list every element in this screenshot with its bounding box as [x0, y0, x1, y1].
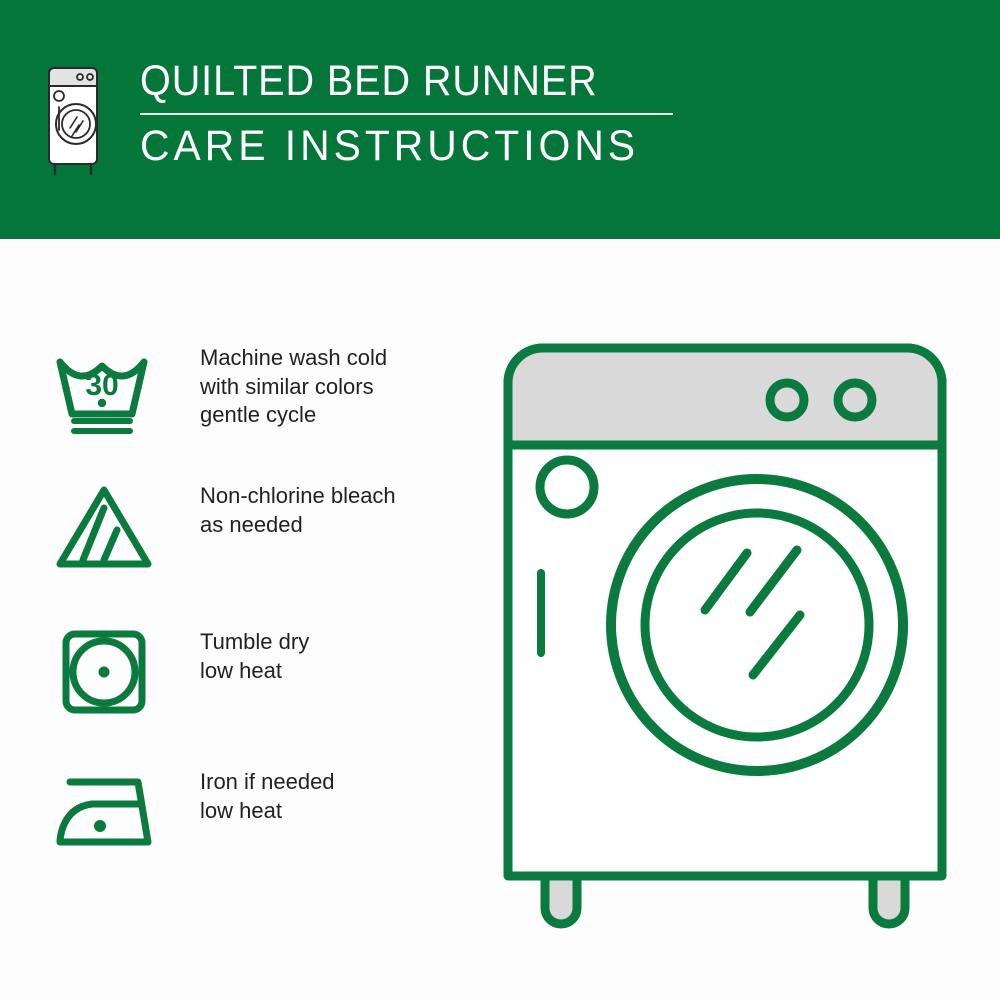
- wash-temperature-label: 30: [85, 369, 118, 402]
- title-divider: [140, 113, 673, 115]
- washing-machine-icon: [45, 62, 105, 180]
- large-washing-machine-illustration: [495, 335, 975, 935]
- page-header: QUILTED BED RUNNER CARE INSTRUCTIONS: [0, 0, 1000, 239]
- care-symbol-slot: 30: [48, 340, 160, 436]
- page-title: QUILTED BED RUNNER: [140, 58, 630, 104]
- care-item-wash: 30 Machine wash cold with similar colors…: [0, 340, 470, 436]
- care-line: with similar colors: [200, 373, 387, 402]
- iron-low-heat-symbol: [48, 764, 160, 854]
- care-line: Iron if needed: [200, 768, 335, 797]
- care-text-tumble-dry: Tumble dry low heat: [200, 624, 309, 685]
- care-text-iron: Iron if needed low heat: [200, 764, 335, 825]
- care-line: as needed: [200, 511, 396, 540]
- care-item-bleach: Non-chlorine bleach as needed: [0, 478, 470, 574]
- wash-tub-30-gentle-symbol: 30: [48, 340, 160, 436]
- care-line: Machine wash cold: [200, 344, 387, 373]
- foot-right: [873, 876, 905, 924]
- care-instructions-page: QUILTED BED RUNNER CARE INSTRUCTIONS 30 …: [0, 0, 1000, 1000]
- non-chlorine-bleach-triangle-symbol: [48, 478, 160, 574]
- care-symbol-slot: [48, 764, 160, 854]
- care-line: low heat: [200, 797, 335, 826]
- foot-left: [545, 876, 577, 924]
- care-line: Non-chlorine bleach: [200, 482, 396, 511]
- tumble-dry-low-heat-symbol: [48, 624, 160, 720]
- care-line: Tumble dry: [200, 628, 309, 657]
- control-panel[interactable]: [508, 348, 942, 445]
- care-item-tumble-dry: Tumble dry low heat: [0, 624, 470, 720]
- care-symbol-slot: [48, 478, 160, 574]
- care-line: low heat: [200, 657, 309, 686]
- page-subtitle: CARE INSTRUCTIONS: [140, 122, 646, 170]
- care-symbol-slot: [48, 624, 160, 720]
- header-titles: QUILTED BED RUNNER CARE INSTRUCTIONS: [140, 58, 673, 170]
- care-item-iron: Iron if needed low heat: [0, 764, 470, 860]
- care-instruction-list: 30 Machine wash cold with similar colors…: [0, 340, 470, 860]
- care-line: gentle cycle: [200, 401, 387, 430]
- header-content: QUILTED BED RUNNER CARE INSTRUCTIONS: [45, 58, 673, 180]
- care-text-wash: Machine wash cold with similar colors ge…: [200, 340, 387, 430]
- care-text-bleach: Non-chlorine bleach as needed: [200, 478, 396, 539]
